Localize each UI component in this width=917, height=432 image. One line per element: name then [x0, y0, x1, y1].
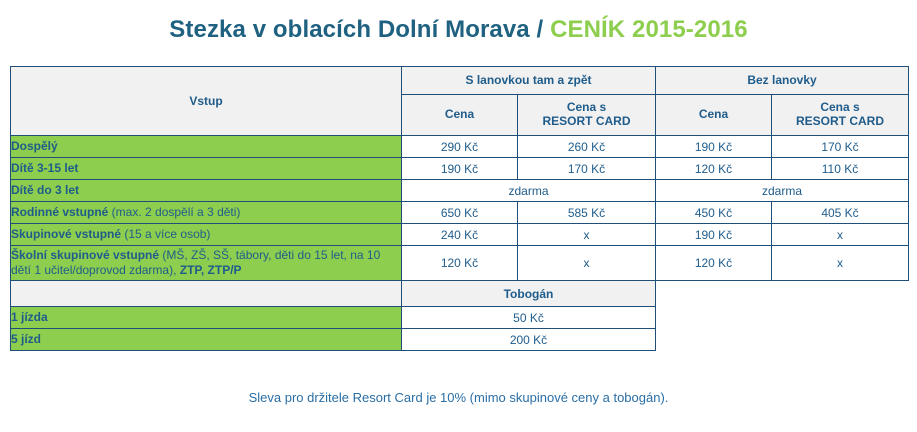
column-group-header-bez-lanovky: Bez lanovky	[656, 67, 909, 95]
cell-dospely-resortcard-2: 170 Kč	[772, 136, 909, 158]
page-title-main: Stezka v oblacích Dolní Morava	[169, 16, 529, 43]
cell-dospely-cena-1: 290 Kč	[402, 136, 518, 158]
cell-dospely-cena-2: 190 Kč	[656, 136, 772, 158]
cell-skupinove-cena-2: 190 Kč	[656, 224, 772, 246]
page-title: Stezka v oblacích Dolní Morava / CENÍK 2…	[0, 0, 917, 40]
cell-rodinne-resortcard-1: 585 Kč	[518, 202, 656, 224]
toboggan-label-1-jizda: 1 jízda	[11, 307, 402, 329]
toboggan-row: 1 jízda 50 Kč	[11, 307, 909, 329]
column-header-cena-resort-card-1-line2: RESORT CARD	[542, 114, 630, 128]
row-label-skupinove-vstupne-bold: Skupinové vstupné	[11, 227, 121, 241]
table-row: Rodinné vstupné (max. 2 dospělí a 3 děti…	[11, 202, 909, 224]
table-row: Dítě do 3 let zdarma zdarma	[11, 180, 909, 202]
cell-ditedo3-zdarma-1: zdarma	[402, 180, 656, 202]
cell-rodinne-resortcard-2: 405 Kč	[772, 202, 909, 224]
column-group-header-s-lanovkou: S lanovkou tam a zpět	[402, 67, 656, 95]
row-label-rodinne-vstupne-bold: Rodinné vstupné	[11, 205, 108, 219]
column-header-cena-1: Cena	[402, 95, 518, 136]
row-label-dite-3-15: Dítě 3-15 let	[11, 158, 402, 180]
toboggan-header-spacer	[11, 281, 402, 307]
cell-skolni-resortcard-1: x	[518, 246, 656, 281]
column-header-cena-1-line1: Cena	[445, 107, 474, 121]
row-label-skolni-bold: Školní skupinové vstupné	[11, 248, 159, 262]
page-title-text: Stezka v oblacích Dolní Morava / CENÍK 2…	[169, 16, 747, 43]
row-label-skupinove-vstupne-note: (15 a více osob)	[121, 227, 210, 241]
cell-skupinove-cena-1: 240 Kč	[402, 224, 518, 246]
toboggan-label-1-jizda-text: 1 jízda	[11, 310, 48, 324]
toboggan-value-5-jizd: 200 Kč	[402, 329, 656, 351]
cell-dite315-cena-2: 120 Kč	[656, 158, 772, 180]
cell-rodinne-cena-2: 450 Kč	[656, 202, 772, 224]
column-header-cena-resort-card-2-line1: Cena s	[820, 100, 859, 114]
column-header-cena-2: Cena	[656, 95, 772, 136]
cell-dite315-resortcard-2: 110 Kč	[772, 158, 909, 180]
cell-dite315-cena-1: 190 Kč	[402, 158, 518, 180]
cell-skupinove-resortcard-1: x	[518, 224, 656, 246]
toboggan-header-blank	[656, 281, 909, 307]
row-label-rodinne-vstupne-note: (max. 2 dospělí a 3 děti)	[108, 205, 240, 219]
row-label-skolni-skupinove-vstupne: Školní skupinové vstupné (MŠ, ZŠ, SŠ, tá…	[11, 246, 402, 281]
row-label-dite-do-3: Dítě do 3 let	[11, 180, 402, 202]
column-header-vstup: Vstup	[11, 67, 402, 136]
table-row: Dítě 3-15 let 190 Kč 170 Kč 120 Kč 110 K…	[11, 158, 909, 180]
row-label-skupinove-vstupne: Skupinové vstupné (15 a více osob)	[11, 224, 402, 246]
row-label-skolni-ztp: ZTP, ZTP/P	[180, 263, 242, 277]
column-header-cena-2-line1: Cena	[699, 107, 728, 121]
cell-skolni-cena-1: 120 Kč	[402, 246, 518, 281]
column-header-cena-resort-card-1-line1: Cena s	[567, 100, 606, 114]
page-title-accent: CENÍK 2015-2016	[550, 16, 748, 43]
table-row: Dospělý 290 Kč 260 Kč 190 Kč 170 Kč	[11, 136, 909, 158]
row-label-dospely: Dospělý	[11, 136, 402, 158]
table-row: Školní skupinové vstupné (MŠ, ZŠ, SŠ, tá…	[11, 246, 909, 281]
column-header-cena-resort-card-1: Cena s RESORT CARD	[518, 95, 656, 136]
toboggan-value-1-jizda: 50 Kč	[402, 307, 656, 329]
toboggan-header: Tobogán	[402, 281, 656, 307]
table-header-row-group: Vstup S lanovkou tam a zpět Bez lanovky	[11, 67, 909, 95]
column-header-cena-resort-card-2-line2: RESORT CARD	[796, 114, 884, 128]
row-label-dospely-bold: Dospělý	[11, 139, 58, 153]
footnote-resort-card-discount: Sleva pro držitele Resort Card je 10% (m…	[0, 390, 917, 405]
column-header-cena-resort-card-2: Cena s RESORT CARD	[772, 95, 909, 136]
cell-rodinne-cena-1: 650 Kč	[402, 202, 518, 224]
toboggan-row-blank-1	[656, 307, 909, 329]
toboggan-label-5-jizd: 5 jízd	[11, 329, 402, 351]
cell-ditedo3-zdarma-2: zdarma	[656, 180, 909, 202]
page-title-separator: /	[530, 16, 550, 43]
toboggan-row: 5 jízd 200 Kč	[11, 329, 909, 351]
cell-skolni-cena-2: 120 Kč	[656, 246, 772, 281]
pricing-table: Vstup S lanovkou tam a zpět Bez lanovky …	[10, 66, 909, 351]
row-label-dite-do-3-bold: Dítě do 3 let	[11, 183, 79, 197]
row-label-rodinne-vstupne: Rodinné vstupné (max. 2 dospělí a 3 děti…	[11, 202, 402, 224]
toboggan-label-5-jizd-text: 5 jízd	[11, 332, 41, 346]
cell-skolni-resortcard-2: x	[772, 246, 909, 281]
cell-skupinove-resortcard-2: x	[772, 224, 909, 246]
cell-dospely-resortcard-1: 260 Kč	[518, 136, 656, 158]
table-row: Skupinové vstupné (15 a více osob) 240 K…	[11, 224, 909, 246]
pricelist-page: Stezka v oblacích Dolní Morava / CENÍK 2…	[0, 0, 917, 432]
row-label-dite-3-15-bold: Dítě 3-15 let	[11, 161, 78, 175]
toboggan-header-row: Tobogán	[11, 281, 909, 307]
toboggan-row-blank-2	[656, 329, 909, 351]
pricing-table-wrapper: Vstup S lanovkou tam a zpět Bez lanovky …	[10, 66, 908, 351]
cell-dite315-resortcard-1: 170 Kč	[518, 158, 656, 180]
